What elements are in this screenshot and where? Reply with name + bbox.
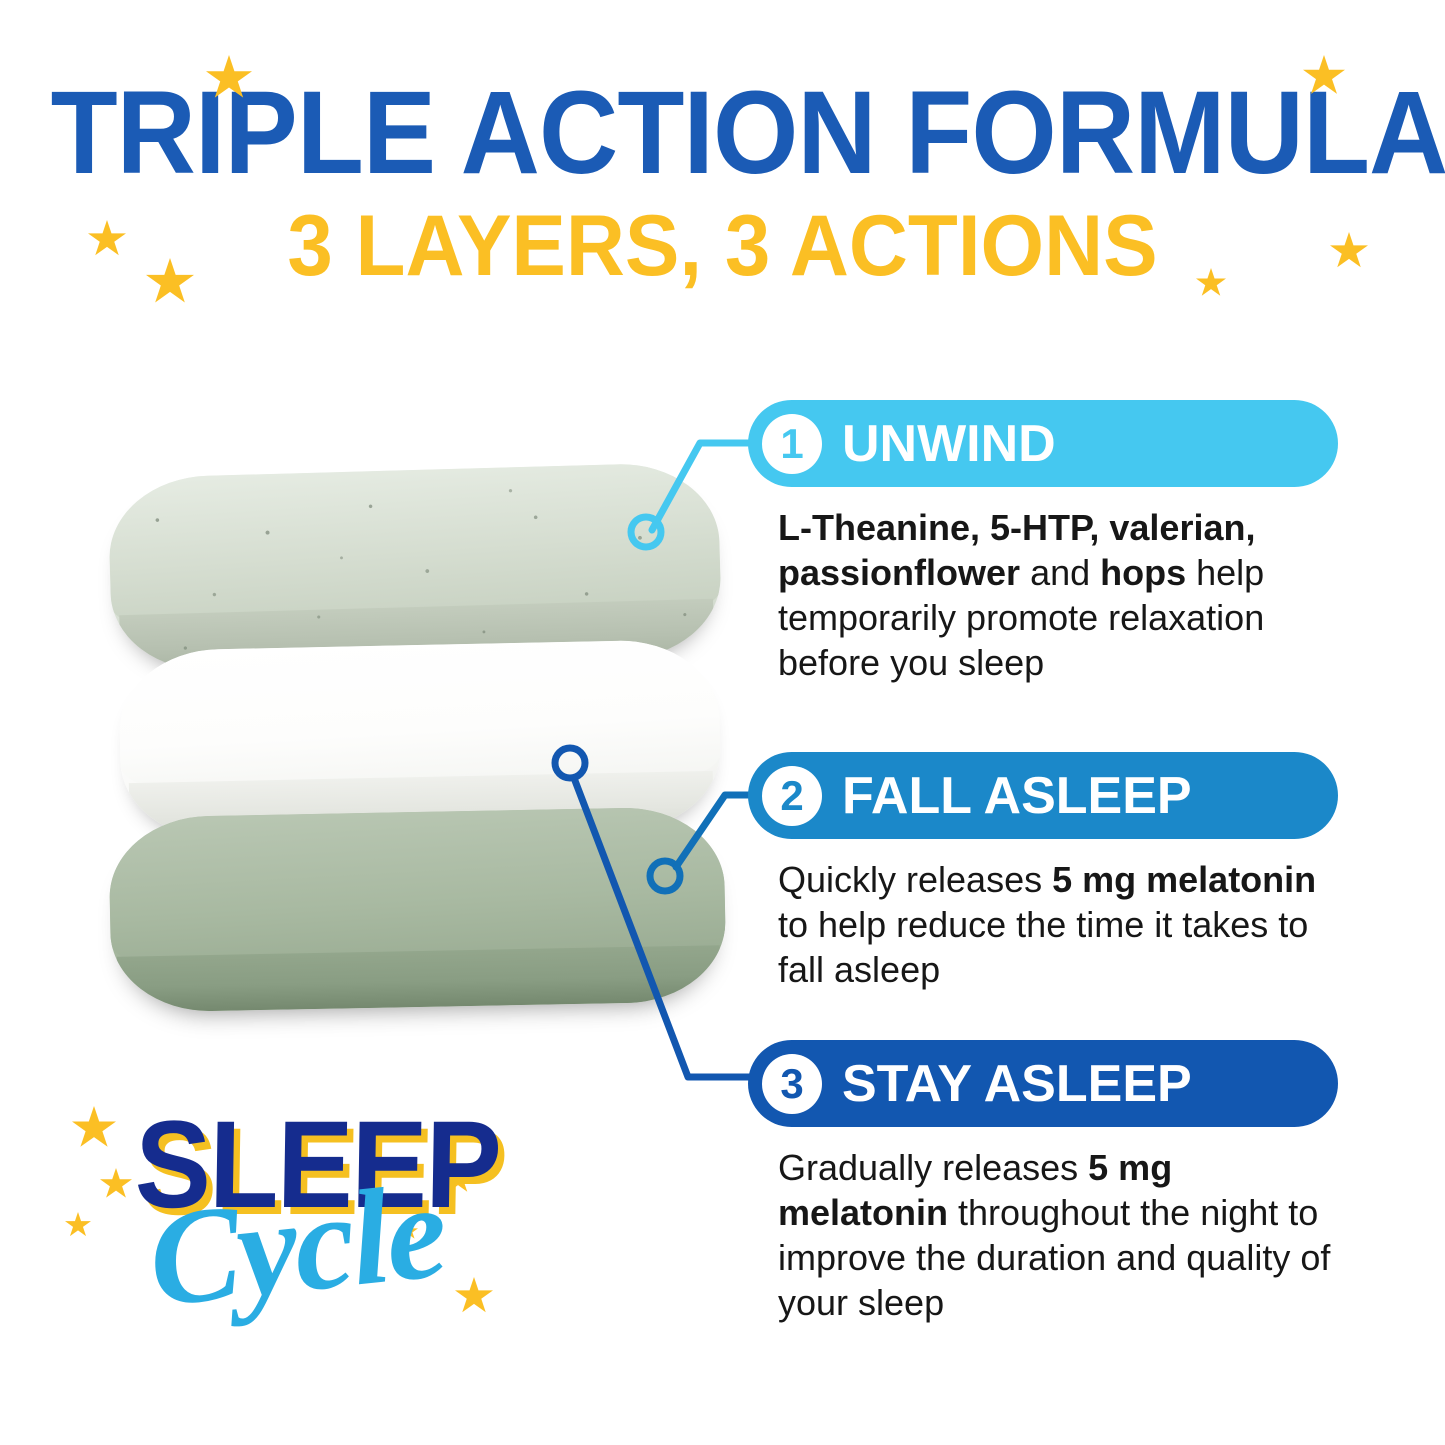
step-label-1: UNWIND [842, 414, 1056, 474]
step-body-3: Gradually releases 5 mg melatonin throug… [748, 1145, 1338, 1325]
step-block-1: 1 UNWIND L-Theanine, 5-HTP, valerian, pa… [748, 400, 1338, 685]
step-body-2: Quickly releases 5 mg melatonin to help … [748, 857, 1338, 992]
tablet-face [108, 806, 726, 968]
step-number-badge-1: 1 [762, 414, 822, 474]
tablet-face [118, 639, 721, 792]
step-number-3: 3 [780, 1063, 803, 1105]
page-subtitle: 3 LAYERS, 3 ACTIONS [36, 203, 1409, 289]
star-icon [65, 1212, 91, 1238]
step-block-2: 2 FALL ASLEEP Quickly releases 5 mg mela… [748, 752, 1338, 992]
step-pill-1[interactable]: 1 UNWIND [748, 400, 1338, 487]
bottom-layer-tablet [108, 806, 727, 1013]
step-label-3: STAY ASLEEP [842, 1054, 1192, 1114]
step-pill-2[interactable]: 2 FALL ASLEEP [748, 752, 1338, 839]
page-title: TRIPLE ACTION FORMULA [51, 78, 1395, 189]
title-block: TRIPLE ACTION FORMULA 3 LAYERS, 3 ACTION… [0, 78, 1445, 289]
step-number-badge-2: 2 [762, 766, 822, 826]
step-number-badge-3: 3 [762, 1054, 822, 1114]
step-label-2: FALL ASLEEP [842, 766, 1192, 826]
step-block-3: 3 STAY ASLEEP Gradually releases 5 mg me… [748, 1040, 1338, 1325]
tablet-edge [117, 945, 721, 1013]
logo-wordmark: SLEEP Cycle [95, 1095, 525, 1385]
step-body-1: L-Theanine, 5-HTP, valerian, passionflow… [748, 505, 1338, 685]
logo-cycle-text: Cycle [143, 1163, 450, 1329]
step-number-2: 2 [780, 775, 803, 817]
infographic-canvas: TRIPLE ACTION FORMULA 3 LAYERS, 3 ACTION… [0, 0, 1445, 1445]
step-pill-3[interactable]: 3 STAY ASLEEP [748, 1040, 1338, 1127]
step-number-1: 1 [780, 423, 803, 465]
